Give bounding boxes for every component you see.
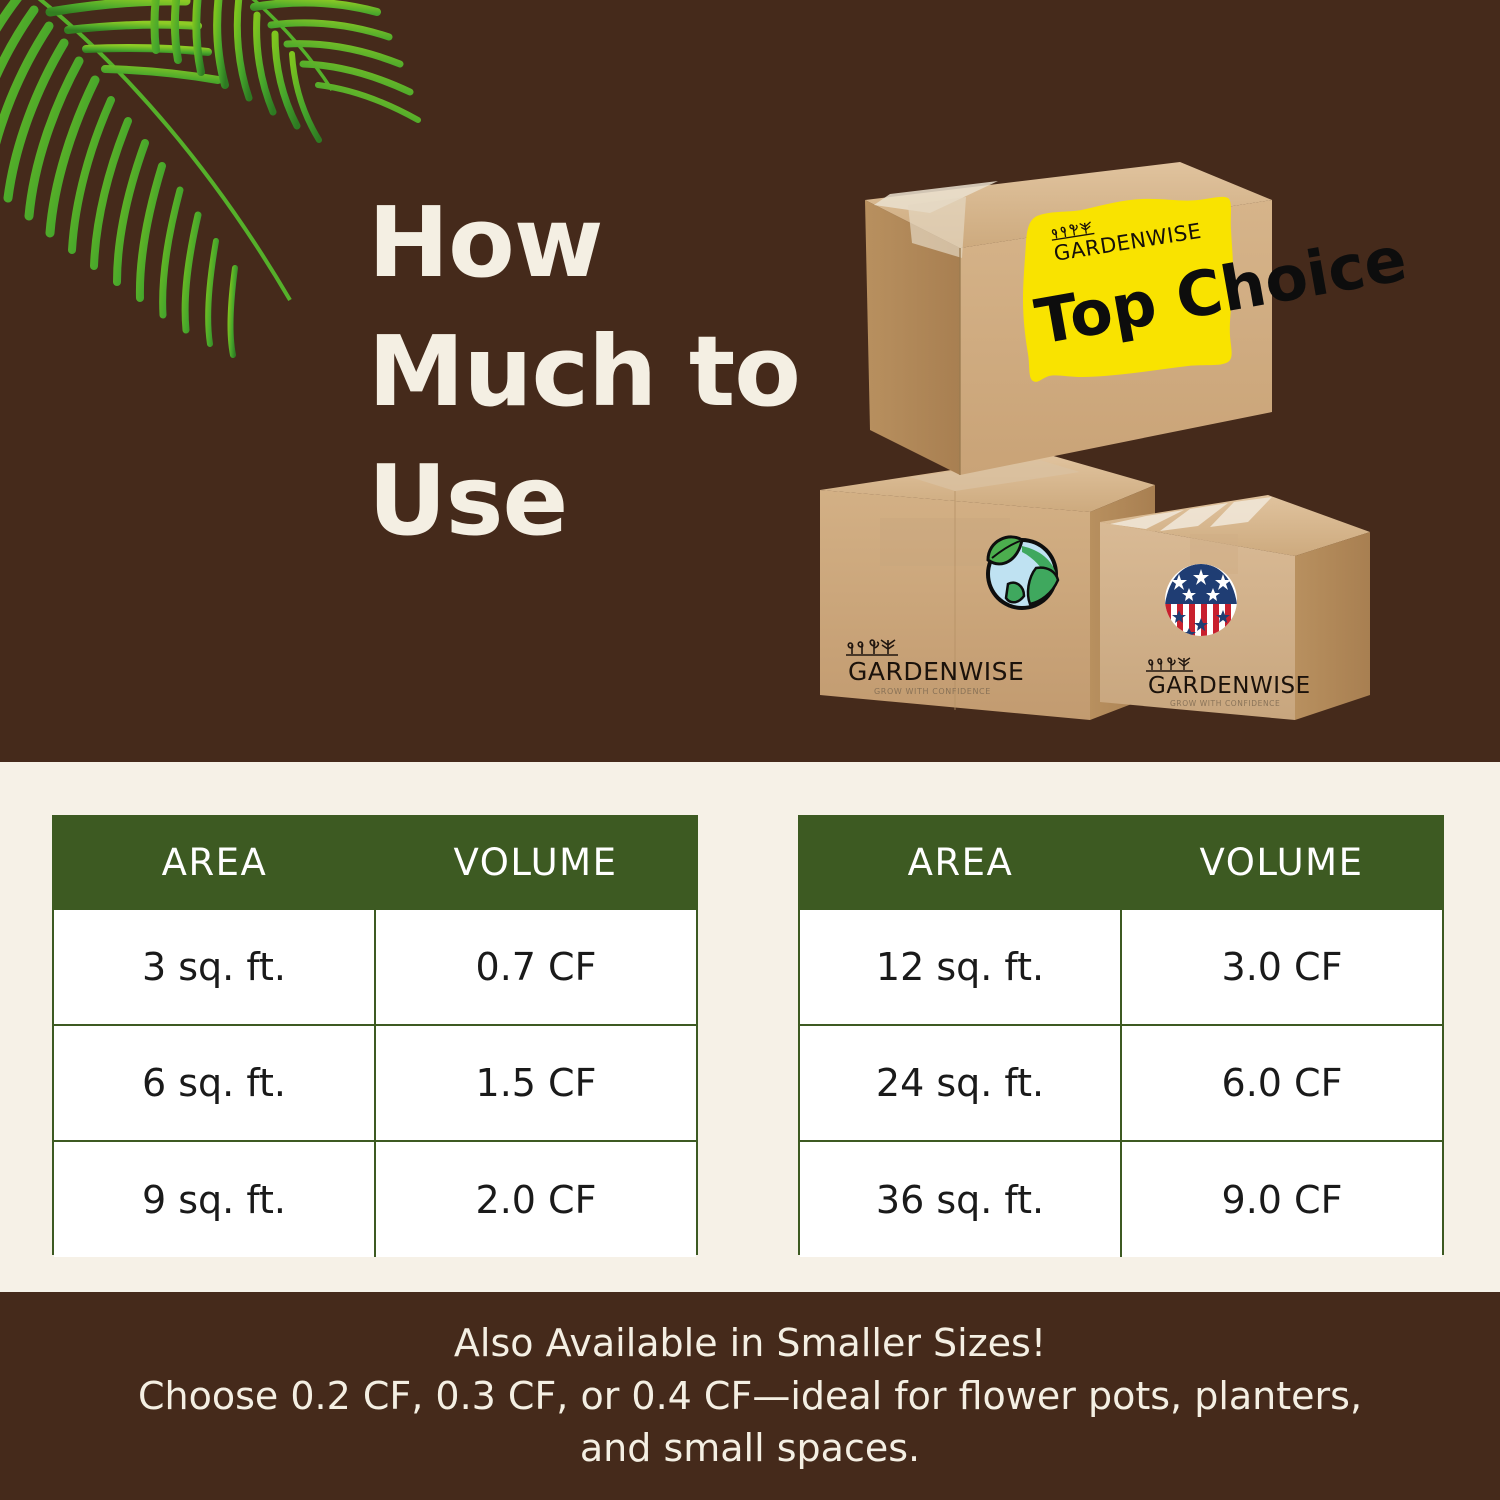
table-row: 6 sq. ft. 1.5 CF (54, 1025, 696, 1141)
col-header-volume: VOLUME (375, 817, 696, 909)
cell-area: 3 sq. ft. (54, 909, 375, 1025)
table-row: 3 sq. ft. 0.7 CF (54, 909, 696, 1025)
cell-area: 12 sq. ft. (800, 909, 1121, 1025)
table-row: 12 sq. ft. 3.0 CF (800, 909, 1442, 1025)
page-title: How Much to Use (368, 178, 788, 565)
sizing-tables-section: AREA VOLUME 3 sq. ft. 0.7 CF 6 sq. ft. 1… (0, 762, 1500, 1292)
small-sizes-table: AREA VOLUME 3 sq. ft. 0.7 CF 6 sq. ft. 1… (52, 815, 698, 1255)
product-boxes-image: GARDENWISE GROW WITH CONFIDENCE (790, 150, 1490, 730)
footer-section: Also Available in Smaller Sizes! Choose … (0, 1292, 1500, 1500)
col-header-volume: VOLUME (1121, 817, 1442, 909)
right-box: GARDENWISE GROW WITH CONFIDENCE (1100, 495, 1370, 720)
cell-volume: 6.0 CF (1121, 1025, 1442, 1141)
svg-text:GARDENWISE: GARDENWISE (1148, 673, 1311, 699)
cell-volume: 0.7 CF (375, 909, 696, 1025)
col-header-area: AREA (800, 817, 1121, 909)
title-line-1: How (368, 178, 788, 307)
col-header-area: AREA (54, 817, 375, 909)
footer-line-3: and small spaces. (580, 1422, 920, 1474)
table-row: 24 sq. ft. 6.0 CF (800, 1025, 1442, 1141)
cell-area: 6 sq. ft. (54, 1025, 375, 1141)
cell-area: 9 sq. ft. (54, 1141, 375, 1257)
title-line-2: Much to (368, 307, 788, 436)
svg-text:GROW WITH CONFIDENCE: GROW WITH CONFIDENCE (874, 687, 991, 696)
cell-volume: 2.0 CF (375, 1141, 696, 1257)
cell-area: 36 sq. ft. (800, 1141, 1121, 1257)
cell-volume: 1.5 CF (375, 1025, 696, 1141)
infographic-page: How Much to Use (0, 0, 1500, 1500)
title-line-3: Use (368, 436, 788, 565)
svg-text:GARDENWISE: GARDENWISE (848, 657, 1024, 686)
table-row: 36 sq. ft. 9.0 CF (800, 1141, 1442, 1257)
large-sizes-table: AREA VOLUME 12 sq. ft. 3.0 CF 24 sq. ft.… (798, 815, 1444, 1255)
footer-line-2: Choose 0.2 CF, 0.3 CF, or 0.4 CF—ideal f… (138, 1370, 1362, 1422)
cell-area: 24 sq. ft. (800, 1025, 1121, 1141)
cell-volume: 3.0 CF (1121, 909, 1442, 1025)
top-box: GARDENWISE Top Choice (865, 162, 1412, 475)
svg-text:GROW WITH CONFIDENCE: GROW WITH CONFIDENCE (1170, 699, 1280, 708)
hero-section: How Much to Use (0, 0, 1500, 762)
table-row: 9 sq. ft. 2.0 CF (54, 1141, 696, 1257)
cell-volume: 9.0 CF (1121, 1141, 1442, 1257)
footer-line-1: Also Available in Smaller Sizes! (454, 1317, 1046, 1369)
palm-leaf-icon (0, 0, 430, 360)
